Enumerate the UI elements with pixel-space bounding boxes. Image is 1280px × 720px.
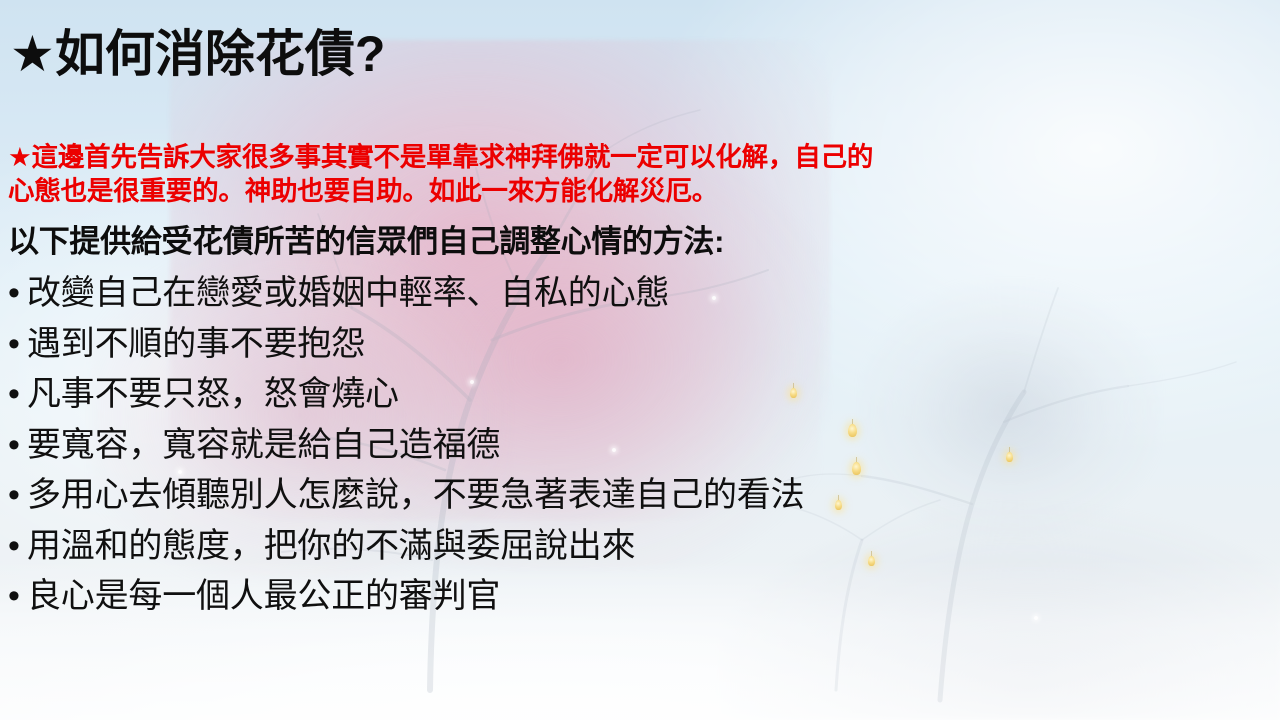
list-item-label: 用溫和的態度，把你的不滿與委屈說出來 xyxy=(27,521,635,572)
slide-content: ★如何消除花債? ★這邊首先告訴大家很多事其實不是單靠求神拜佛就一定可以化解，自… xyxy=(0,0,1280,720)
list-item-label: 多用心去傾聽別人怎麼說，不要急著表達自己的看法 xyxy=(27,470,804,521)
list-item-label: 改變自己在戀愛或婚姻中輕率、自私的心態 xyxy=(27,268,669,319)
bullet-marker-icon: • xyxy=(8,319,27,370)
list-item: • 凡事不要只怒，怒會燒心 xyxy=(8,369,1278,420)
list-item: • 用溫和的態度，把你的不滿與委屈說出來 xyxy=(8,521,1278,572)
red-note: ★這邊首先告訴大家很多事其實不是單靠求神拜佛就一定可以化解，自己的 心態也是很重… xyxy=(8,140,1270,209)
bullet-marker-icon: • xyxy=(8,571,27,622)
list-item: • 良心是每一個人最公正的審判官 xyxy=(8,571,1278,622)
list-item-label: 良心是每一個人最公正的審判官 xyxy=(27,571,500,622)
list-item: • 多用心去傾聽別人怎麼說，不要急著表達自己的看法 xyxy=(8,470,1278,521)
lead-in-text: 以下提供給受花債所苦的信眾們自己調整心情的方法: xyxy=(8,216,724,261)
bullet-marker-icon: • xyxy=(8,369,27,420)
bullet-marker-icon: • xyxy=(8,420,27,471)
page-title: ★如何消除花債? xyxy=(10,28,385,81)
list-item-label: 要寬容，寬容就是給自己造福德 xyxy=(27,420,500,471)
slide: ★如何消除花債? ★這邊首先告訴大家很多事其實不是單靠求神拜佛就一定可以化解，自… xyxy=(0,0,1280,720)
list-item-label: 凡事不要只怒，怒會燒心 xyxy=(27,369,399,420)
list-item: • 要寬容，寬容就是給自己造福德 xyxy=(8,420,1278,471)
list-item-label: 遇到不順的事不要抱怨 xyxy=(27,319,365,370)
bullet-marker-icon: • xyxy=(8,268,27,319)
red-note-line-2: 心態也是很重要的。神助也要自助。如此一來方能化解災厄。 xyxy=(8,174,1270,208)
bullet-marker-icon: • xyxy=(8,521,27,572)
list-item: • 遇到不順的事不要抱怨 xyxy=(8,319,1278,370)
bullet-marker-icon: • xyxy=(8,470,27,521)
list-item: • 改變自己在戀愛或婚姻中輕率、自私的心態 xyxy=(8,268,1278,319)
red-note-line-1: ★這邊首先告訴大家很多事其實不是單靠求神拜佛就一定可以化解，自己的 xyxy=(8,140,1270,174)
bullet-list: • 改變自己在戀愛或婚姻中輕率、自私的心態 • 遇到不順的事不要抱怨 • 凡事不… xyxy=(8,268,1278,622)
